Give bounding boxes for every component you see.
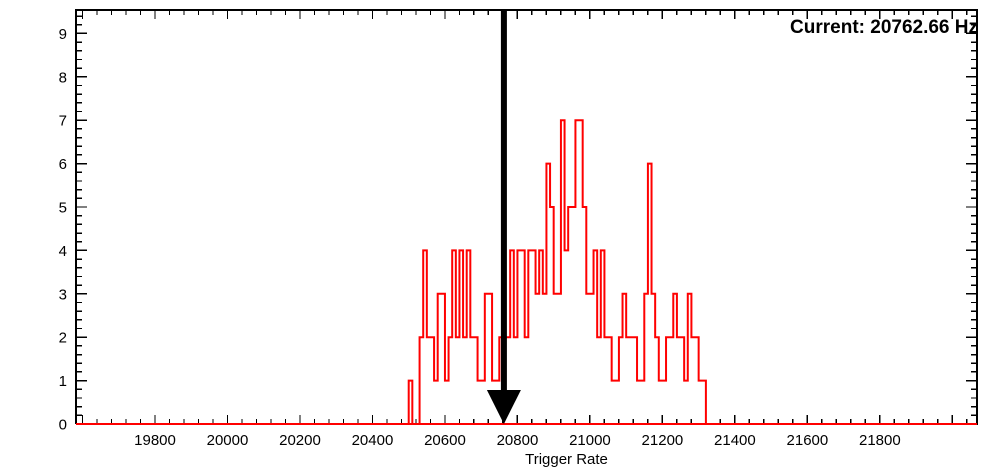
x-tick-label: 19800 — [134, 432, 176, 449]
root-canvas: 1980020000202002040020600208002100021200… — [0, 0, 996, 472]
x-tick-label: 21600 — [787, 432, 829, 449]
x-tick-label: 21200 — [642, 432, 684, 449]
x-tick-label: 20600 — [424, 432, 466, 449]
y-tick-label: 2 — [59, 330, 67, 347]
y-tick-label: 0 — [59, 417, 67, 434]
y-tick-label: 5 — [59, 200, 67, 217]
x-tick-label: 21400 — [714, 432, 756, 449]
y-tick-label: 7 — [59, 113, 67, 130]
y-tick-label: 1 — [59, 373, 67, 390]
y-tick-label: 9 — [59, 26, 67, 43]
current-rate-readout: Current: 20762.66 Hz — [790, 17, 978, 39]
y-tick-label: 4 — [59, 243, 67, 260]
x-tick-label: 20200 — [279, 432, 321, 449]
x-axis-title: Trigger Rate — [525, 451, 608, 468]
y-tick-label: 6 — [59, 156, 67, 173]
y-tick-label: 3 — [59, 286, 67, 303]
y-tick-label: 8 — [59, 69, 67, 86]
x-tick-label: 20000 — [207, 432, 249, 449]
x-tick-label: 20800 — [497, 432, 539, 449]
trigger-rate-histogram-plot: 1980020000202002040020600208002100021200… — [0, 0, 996, 472]
x-tick-label: 21800 — [859, 432, 901, 449]
x-tick-label: 20400 — [352, 432, 394, 449]
x-tick-label: 21000 — [569, 432, 611, 449]
